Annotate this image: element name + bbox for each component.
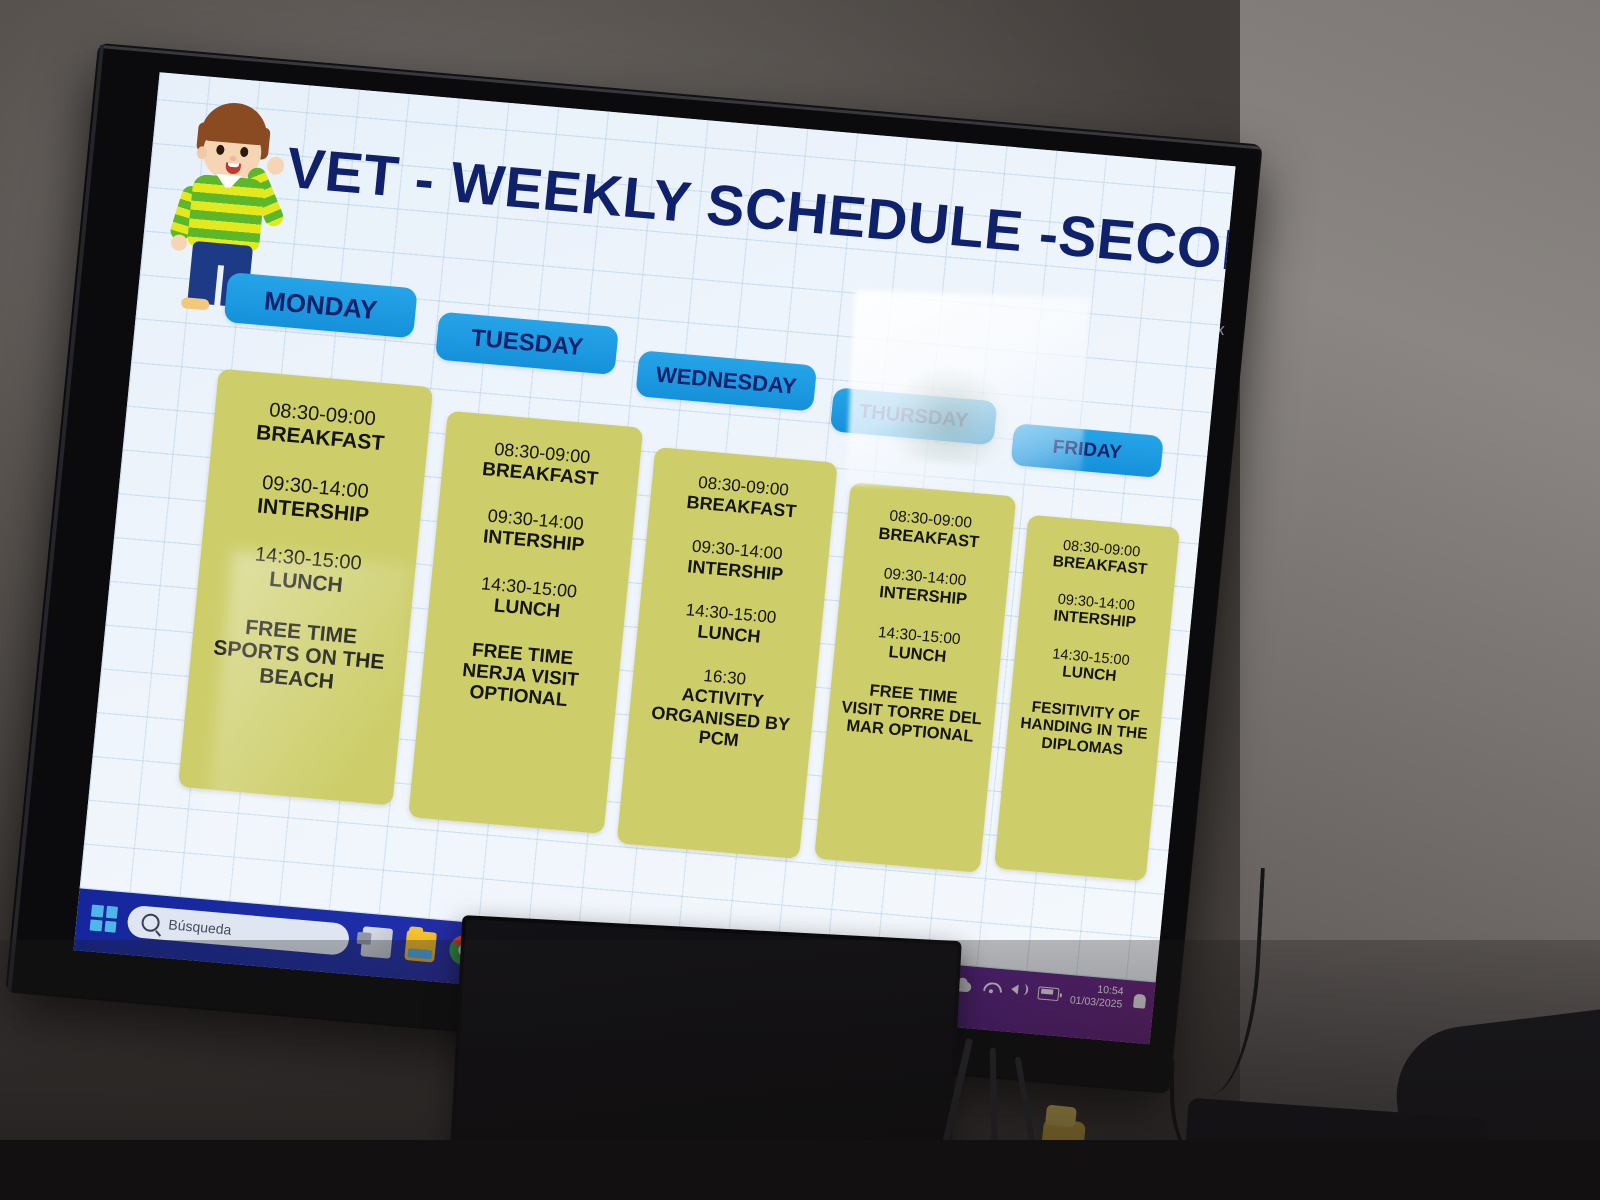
slot-activity: FREE TIME NERJA VISIT OPTIONAL xyxy=(428,636,614,715)
schedule-card-wednesday: 08:30-09:00 BREAKFAST 09:30-14:00 INTERS… xyxy=(617,447,838,859)
day-header-label: TUESDAY xyxy=(470,324,585,362)
page-title: VET - WEEKLY SCHEDULE -SECOND WEEK xyxy=(284,139,1196,276)
schedule-slot: 14:30-15:00 LUNCH xyxy=(208,540,407,603)
room-shadow-lower xyxy=(0,940,1600,1200)
schedule-slot: 09:30-14:00 INTERSHIP xyxy=(215,468,414,531)
schedule-slot: 14:30-15:00 LUNCH xyxy=(436,569,619,627)
day-header-label: FRIDAY xyxy=(1052,437,1123,465)
schedule-slot: 16:30 ACTIVITY ORGANISED BY PCM xyxy=(633,661,811,756)
schedule-slot: 08:30-09:00 BREAKFAST xyxy=(1026,535,1175,581)
search-icon xyxy=(141,913,161,932)
schedule-card-monday: 08:30-09:00 BREAKFAST 09:30-14:00 INTERS… xyxy=(178,369,433,806)
day-header-monday: MONDAY xyxy=(224,272,418,338)
schedule-slot: FREE TIME SPORTS ON THE BEACH xyxy=(198,612,399,699)
day-header-friday: FRIDAY xyxy=(1010,423,1164,478)
schedule-slot: 09:30-14:00 INTERSHIP xyxy=(1021,589,1170,635)
presentation-slide: VET - WEEKLY SCHEDULE -SECOND WEEK MONDA… xyxy=(80,72,1236,982)
schedule-slot: FREE TIME NERJA VISIT OPTIONAL xyxy=(428,636,614,715)
schedule-slot: 09:30-14:00 INTERSHIP xyxy=(844,563,1005,613)
windows-logo-icon[interactable] xyxy=(90,905,118,933)
day-header-wednesday: WEDNESDAY xyxy=(635,350,817,411)
schedule-slot: 14:30-15:00 LUNCH xyxy=(1016,643,1165,689)
schedule-card-friday: 08:30-09:00 BREAKFAST 09:30-14:00 INTERS… xyxy=(994,515,1180,882)
day-header-label: THURSDAY xyxy=(858,400,969,432)
schedule-card-thursday: 08:30-09:00 BREAKFAST 09:30-14:00 INTERS… xyxy=(814,482,1016,873)
schedule-slot: FREE TIME VISIT TORRE DEL MAR OPTIONAL xyxy=(830,679,993,748)
day-header-tuesday: TUESDAY xyxy=(435,312,619,375)
search-placeholder: Búsqueda xyxy=(168,916,232,937)
schedule-slot: 14:30-15:00 LUNCH xyxy=(643,597,817,652)
schedule-slot: 14:30-15:00 LUNCH xyxy=(838,621,999,671)
schedule-slot: FESITIVITY OF HANDING IN THE DIPLOMAS xyxy=(1009,697,1160,762)
schedule-slot: 08:30-09:00 BREAKFAST xyxy=(449,435,632,493)
schedule-slot: 08:30-09:00 BREAKFAST xyxy=(222,395,421,458)
day-header-thursday: THURSDAY xyxy=(830,387,998,445)
schedule-card-tuesday: 08:30-09:00 BREAKFAST 09:30-14:00 INTERS… xyxy=(408,411,643,834)
schedule-slot: 09:30-14:00 INTERSHIP xyxy=(443,502,626,560)
slot-activity: FREE TIME SPORTS ON THE BEACH xyxy=(198,612,399,699)
schedule-slot: 08:30-09:00 BREAKFAST xyxy=(655,469,829,524)
day-header-label: WEDNESDAY xyxy=(655,362,798,400)
slot-activity: FESITIVITY OF HANDING IN THE DIPLOMAS xyxy=(1009,697,1160,762)
day-header-label: MONDAY xyxy=(263,285,379,326)
schedule-slot: 09:30-14:00 INTERSHIP xyxy=(649,533,823,588)
slot-activity: FREE TIME VISIT TORRE DEL MAR OPTIONAL xyxy=(830,679,993,748)
room-scene: x VET - WEEK xyxy=(0,0,1600,1200)
tv-screen: VET - WEEKLY SCHEDULE -SECOND WEEK MONDA… xyxy=(74,72,1236,1044)
schedule-slot: 08:30-09:00 BREAKFAST xyxy=(849,504,1010,554)
